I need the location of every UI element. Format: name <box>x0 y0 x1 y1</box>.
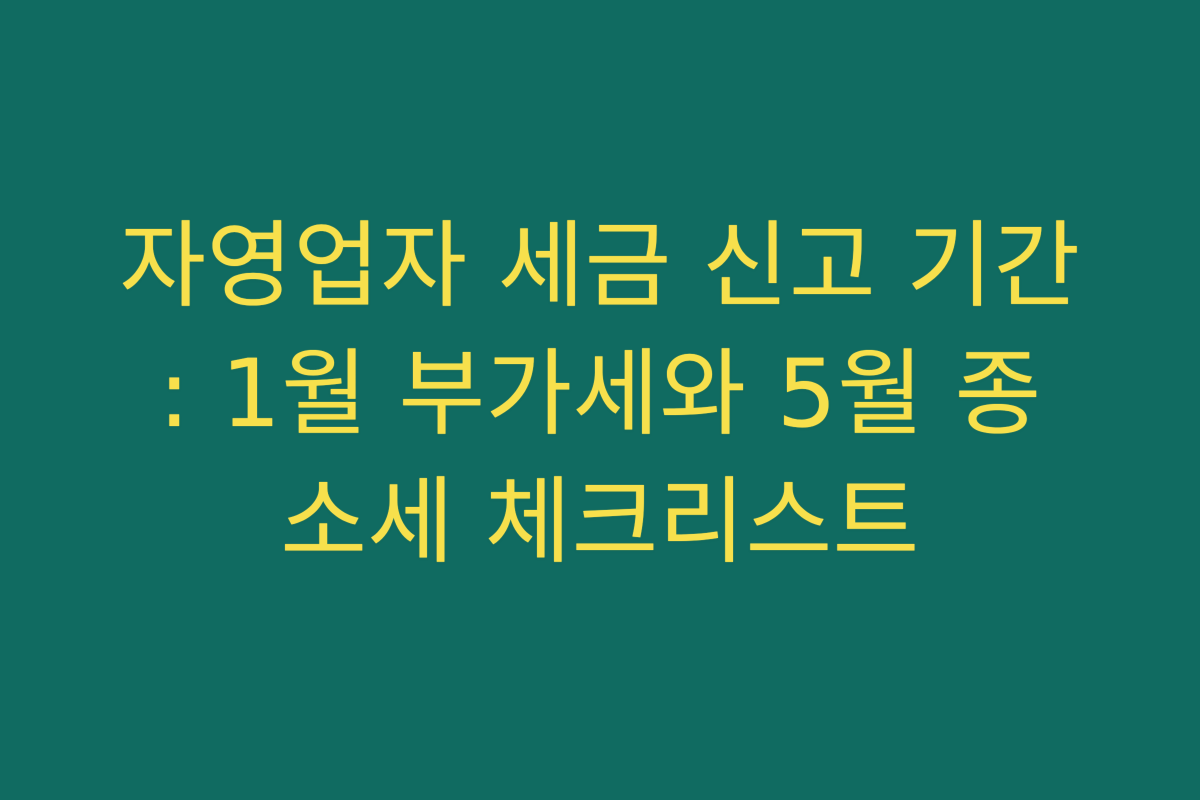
title-line-3: 소세 체크리스트 <box>280 459 919 587</box>
page-title: 자영업자 세금 신고 기간 : 1월 부가세와 5월 종 소세 체크리스트 <box>70 203 1130 587</box>
title-line-1: 자영업자 세금 신고 기간 <box>120 203 1081 331</box>
thumbnail-canvas: 자영업자 세금 신고 기간 : 1월 부가세와 5월 종 소세 체크리스트 <box>0 0 1200 800</box>
title-line-2: : 1월 부가세와 5월 종 <box>158 331 1041 459</box>
